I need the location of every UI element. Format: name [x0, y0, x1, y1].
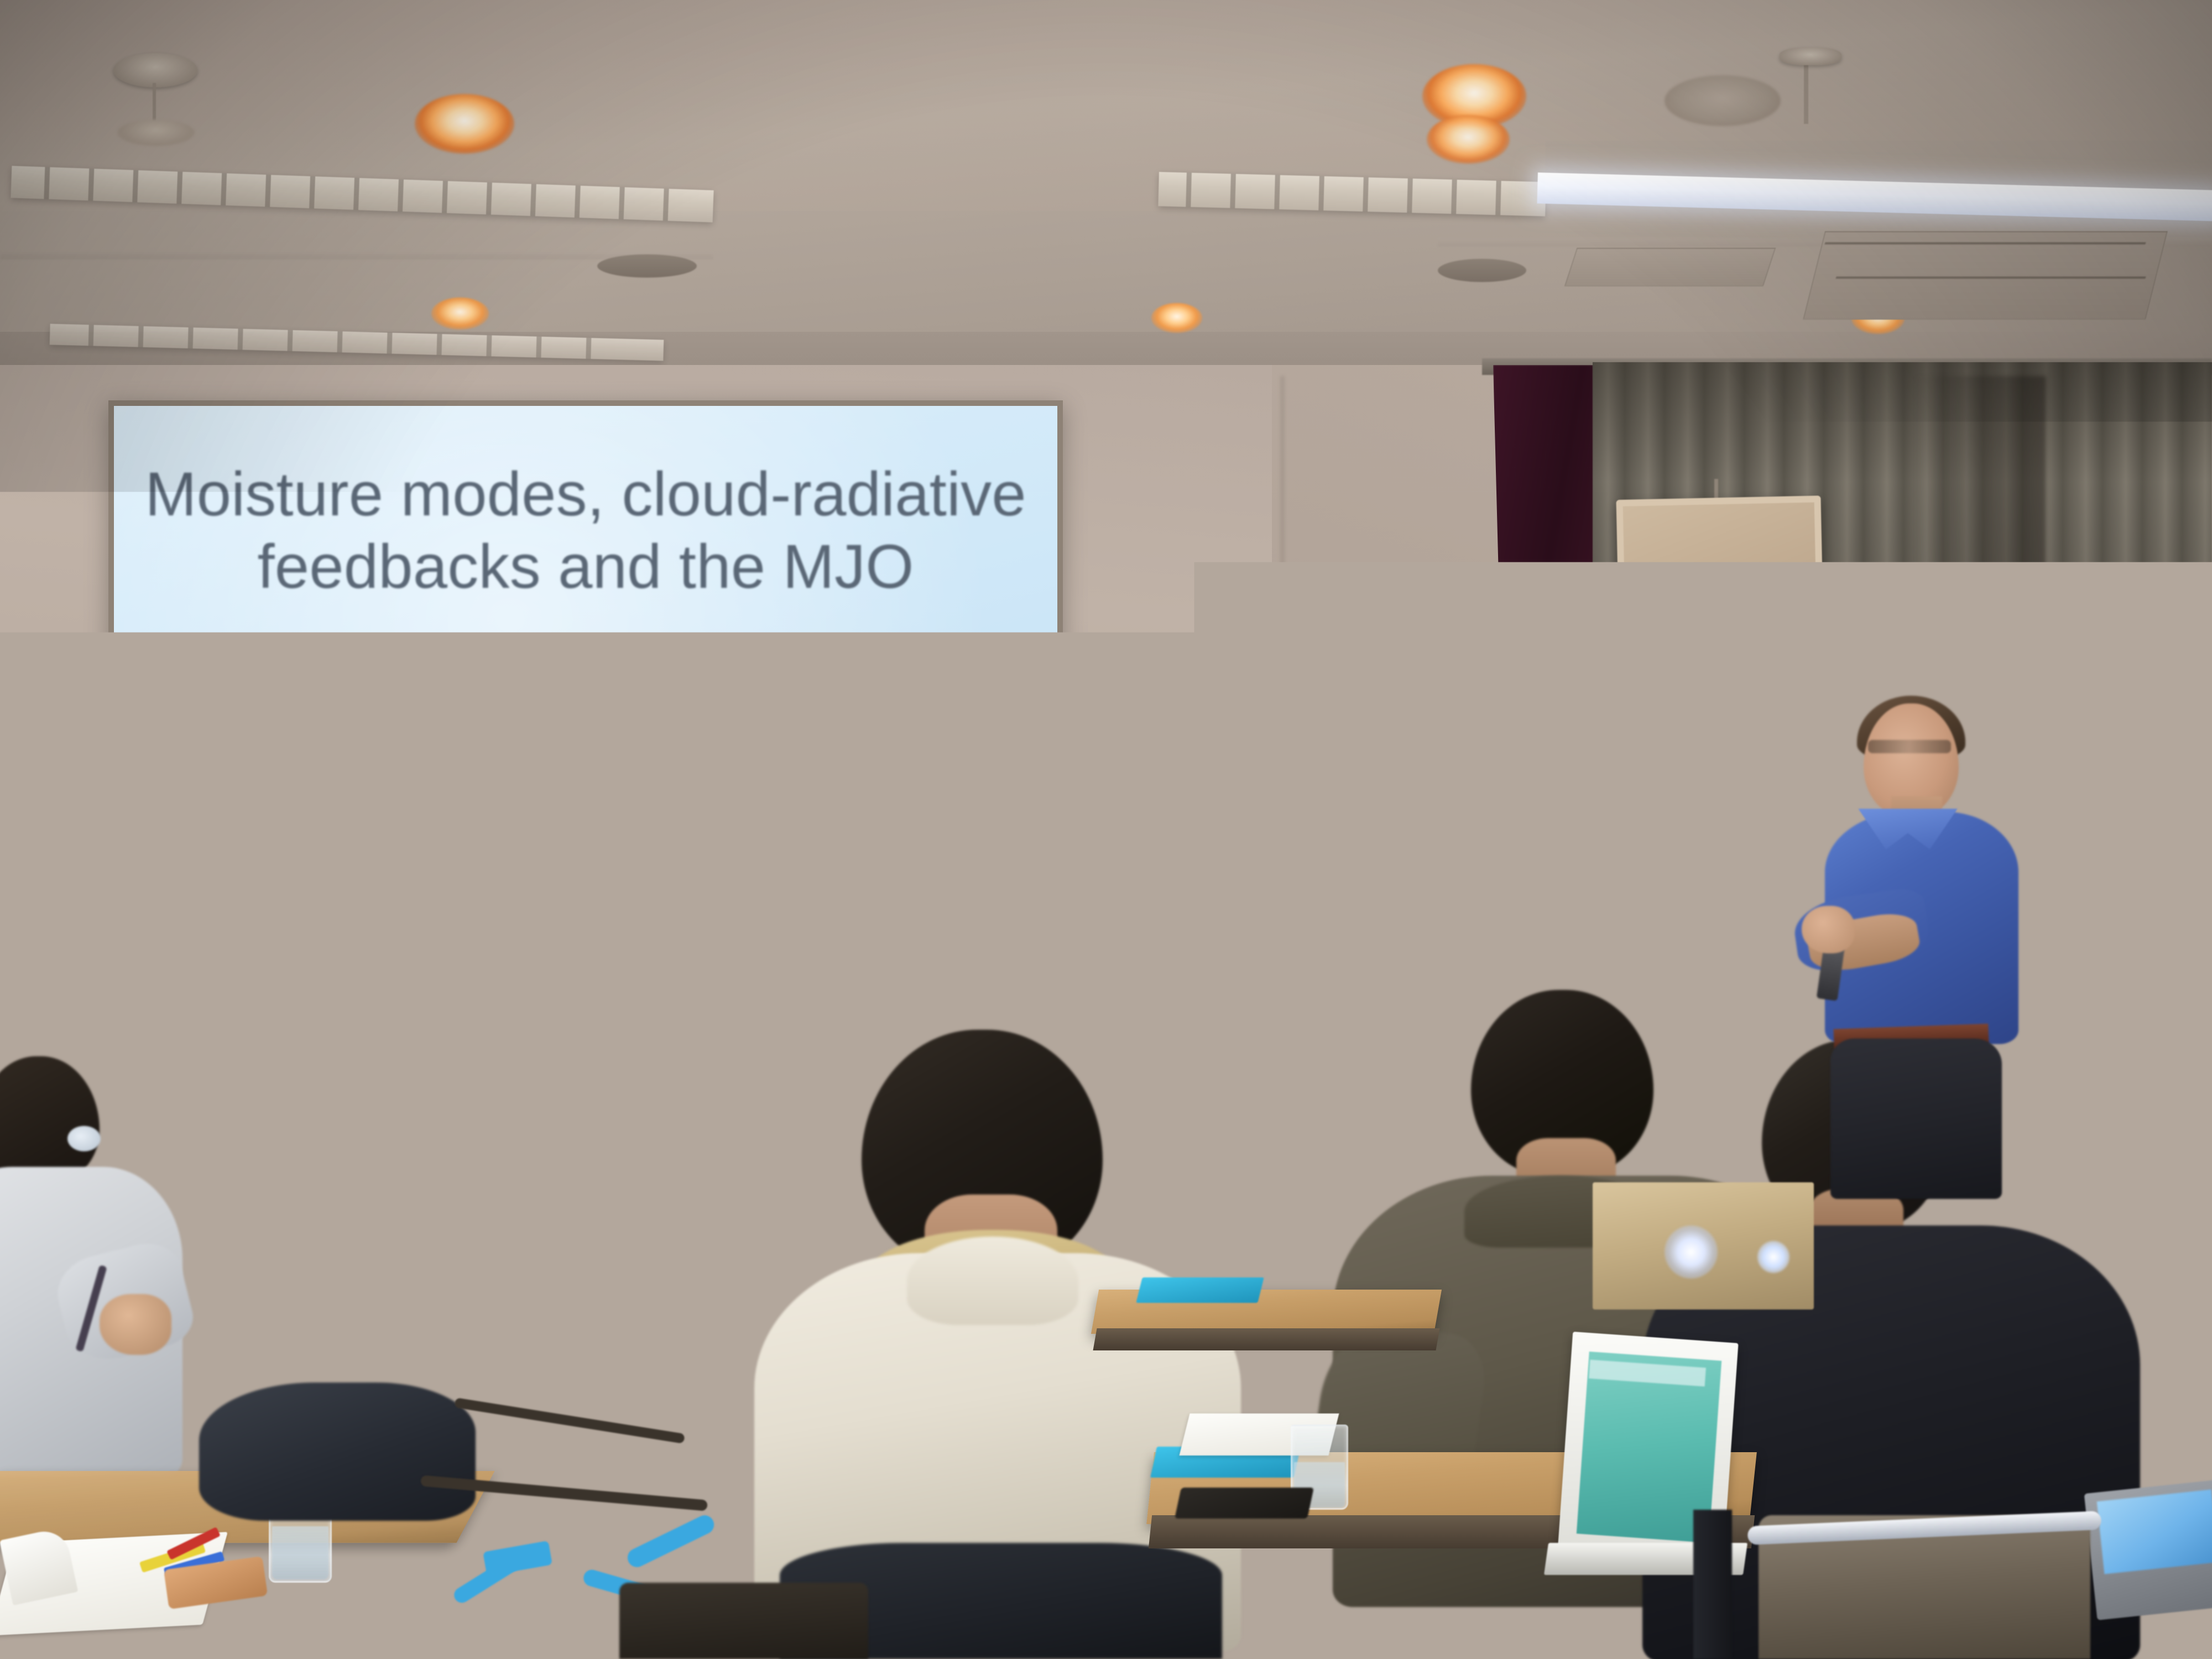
water-in-glass [272, 1526, 328, 1579]
smoke-detector-icon [113, 53, 197, 87]
camera-dslr[interactable] [700, 1233, 770, 1286]
whiteboard-magnet-strip [1420, 719, 1436, 940]
camcorder-red-accent [620, 1248, 633, 1272]
whiteboard-2-support [2124, 862, 2174, 872]
ceiling-dome-unlit [1665, 75, 1781, 126]
chair-back-left[interactable] [619, 1583, 868, 1659]
dark-divider-post [2079, 680, 2168, 1100]
outlet-slot [1246, 1214, 1255, 1224]
wall-speaker-panel [1616, 495, 1823, 637]
camera-mount [633, 1265, 669, 1295]
outlet-slot [1282, 1213, 1292, 1225]
camcorder-lcd-screen [568, 1251, 620, 1286]
downlight-icon [1151, 303, 1202, 333]
vent-slat [1825, 242, 2146, 244]
slide-title: Moisture modes, cloud-radiative feedback… [114, 458, 1057, 603]
vent-slat [1836, 276, 2146, 279]
slide-venue: FDEPS, Kyoto [114, 937, 1057, 976]
ceiling-vent [597, 254, 697, 278]
chair-frame [1693, 1510, 1732, 1659]
desk-edge [1093, 1328, 1439, 1350]
downlight-icon [1427, 115, 1510, 164]
slide-author: Adam Sobel [114, 649, 1057, 703]
device-on-desk [1175, 1488, 1314, 1519]
sprinkler-stem [1804, 62, 1808, 124]
ceiling-vent [1564, 248, 1776, 286]
screen-highlight [1757, 1241, 1790, 1273]
laptop-far-right-screen [2097, 1489, 2212, 1574]
whiteboard-2-edge [2173, 688, 2181, 1058]
glasses [67, 1126, 101, 1151]
hood [907, 1237, 1078, 1325]
ceiling-dome-unlit [117, 119, 195, 146]
lecture-room-photo: Moisture modes, cloud-radiative feedback… [0, 0, 2212, 1659]
ceiling-seam [0, 252, 713, 259]
apple-logo-icon [1665, 1225, 1718, 1279]
sprinkler-icon [1780, 48, 1841, 65]
hand [100, 1294, 171, 1355]
presenter-trousers [1830, 1039, 2002, 1199]
presenter-glasses [1868, 740, 1951, 753]
slide-coauthors: Eric Maloney, Shuguang Wang, Daehyun Kim… [114, 732, 1057, 881]
downlight-icon [415, 94, 514, 154]
blue-folder[interactable] [1136, 1277, 1264, 1303]
whiteboard-2-magnet-strip [2182, 698, 2199, 941]
folder-on-desk [258, 1288, 444, 1303]
whiteboard-sticker [1442, 719, 1465, 766]
outlet-slot [1263, 1214, 1272, 1224]
ceiling-vent-large [1803, 231, 2168, 320]
wall-corner-seam [1280, 376, 1285, 1283]
presenter-hand [1802, 906, 1855, 953]
downlight-icon [431, 298, 489, 330]
ceiling-vent [1438, 259, 1526, 282]
coat-on-desk [199, 1383, 476, 1521]
